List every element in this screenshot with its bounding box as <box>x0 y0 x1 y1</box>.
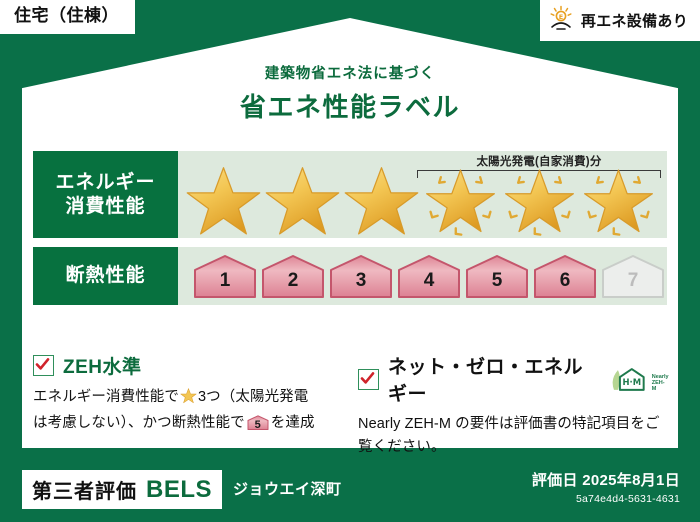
thermal-level-scale: 1 2 3 <box>178 253 666 299</box>
star-rating <box>184 163 658 237</box>
thermal-level-2-value: 2 <box>260 270 326 292</box>
zeh-standard-note: ZEH水準 エネルギー消費性能で 3つ（太陽光発電 は考慮しない）、かつ断熱性能… <box>33 352 344 460</box>
thermal-level-5-value: 5 <box>464 270 530 292</box>
net-zero-energy-title: ネット・ゼロ・エネルギー <box>388 352 597 406</box>
star-5-solar <box>500 163 579 237</box>
star-2 <box>263 163 342 237</box>
thermal-performance-row: 断熱性能 1 <box>33 247 667 305</box>
thermal-level-4-value: 4 <box>396 270 462 292</box>
thermal-level-7-value: 7 <box>600 270 666 292</box>
evaluation-date-label: 評価日 <box>532 472 578 489</box>
inline-star-icon <box>180 387 197 412</box>
star-6-solar <box>579 163 658 237</box>
net-zero-energy-body: Nearly ZEH-M の要件は評価書の特記項目をご覧ください。 <box>358 413 669 460</box>
thermal-performance-label: 断熱性能 <box>33 247 178 305</box>
zeh-standard-title: ZEH水準 <box>63 352 142 379</box>
renewable-energy-badge-label: 再エネ設備あり <box>581 10 688 31</box>
criteria-notes: ZEH水準 エネルギー消費性能で 3つ（太陽光発電 は考慮しない）、かつ断熱性能… <box>33 352 669 460</box>
thermal-level-1-value: 1 <box>192 270 258 292</box>
evaluation-date-value: 2025年8月1日 <box>582 472 680 489</box>
thermal-level-6-value: 6 <box>532 270 598 292</box>
evaluation-id: 5a74e4d4-5631-4631 <box>532 493 680 505</box>
star-4-solar <box>421 163 500 237</box>
bels-certification-plate: 第三者評価 BELS <box>22 470 222 509</box>
zeh-standard-heading: ZEH水準 <box>33 352 344 379</box>
checkbox-checked-icon <box>33 355 54 376</box>
thermal-level-7: 7 <box>600 253 666 299</box>
svg-text:E: E <box>559 13 563 21</box>
thermal-label-text: 断熱性能 <box>65 264 145 288</box>
category-chip: 住宅（住棟） <box>0 0 135 34</box>
energy-performance-label: エネルギー 消費性能 <box>33 151 178 238</box>
net-zero-energy-note: ネット・ゼロ・エネルギー H·M Nearly ZEH-M Nearly ZEH… <box>358 352 669 460</box>
energy-label-line2: 消費性能 <box>65 195 145 219</box>
energy-label-line1: エネルギー <box>55 171 155 195</box>
star-1 <box>184 163 263 237</box>
energy-star-track: 太陽光発電(自家消費)分 <box>178 151 667 238</box>
thermal-level-3: 3 <box>328 253 394 299</box>
performance-rows: エネルギー 消費性能 太陽光発電(自家消費)分 <box>33 151 667 314</box>
zeh-body-star-count: 3つ（太陽光発電 <box>198 389 308 405</box>
label-title: 省エネ性能ラベル <box>0 87 700 124</box>
thermal-level-track: 1 2 3 <box>178 247 667 305</box>
star-3 <box>342 163 421 237</box>
thermal-level-3-value: 3 <box>328 270 394 292</box>
evaluation-date: 評価日 2025年8月1日 <box>532 469 680 490</box>
checkbox-checked-icon <box>358 369 379 390</box>
category-chip-label: 住宅（住棟） <box>14 6 119 25</box>
zeh-body-part3: を達成 <box>271 415 315 431</box>
renewable-energy-badge: E 再エネ設備あり <box>540 0 700 41</box>
zeh-body-part2: は考慮しない）、かつ断熱性能で <box>33 415 245 431</box>
bels-jp-label: 第三者評価 <box>32 475 137 504</box>
label-footer: 第三者評価 BELS ジョウエイ深町 評価日 2025年8月1日 5a74e4d… <box>0 462 700 522</box>
label-header: 建築物省エネ法に基づく 省エネ性能ラベル <box>0 62 700 124</box>
builder-name: ジョウエイ深町 <box>233 478 342 499</box>
zeh-standard-body: エネルギー消費性能で 3つ（太陽光発電 は考慮しない）、かつ断熱性能で 5 を達… <box>33 386 344 436</box>
thermal-level-4: 4 <box>396 253 462 299</box>
energy-performance-label: 住宅（住棟） E 再エネ設備あり 建築物省エネ法に基づく 省エネ性能ラベ <box>0 0 700 522</box>
zeh-m-logo-sub2: ZEH-M <box>652 380 665 392</box>
solar-sun-icon: E <box>548 5 574 36</box>
energy-performance-row: エネルギー 消費性能 太陽光発電(自家消費)分 <box>33 151 667 238</box>
bels-en-label: BELS <box>146 476 212 504</box>
thermal-level-5: 5 <box>464 253 530 299</box>
zeh-body-part1: エネルギー消費性能で <box>33 389 179 405</box>
thermal-level-2: 2 <box>260 253 326 299</box>
inline-house-level-icon: 5 <box>247 414 269 431</box>
inline-house-level-value: 5 <box>247 417 269 435</box>
label-subtitle: 建築物省エネ法に基づく <box>0 62 700 83</box>
svg-text:H·M: H·M <box>623 376 642 386</box>
net-zero-energy-heading: ネット・ゼロ・エネルギー H·M Nearly ZEH-M <box>358 352 669 406</box>
nearly-zeh-m-logo: H·M Nearly ZEH-M <box>611 366 669 393</box>
evaluation-info: 評価日 2025年8月1日 5a74e4d4-5631-4631 <box>532 469 680 505</box>
thermal-level-6: 6 <box>532 253 598 299</box>
thermal-level-1: 1 <box>192 253 258 299</box>
